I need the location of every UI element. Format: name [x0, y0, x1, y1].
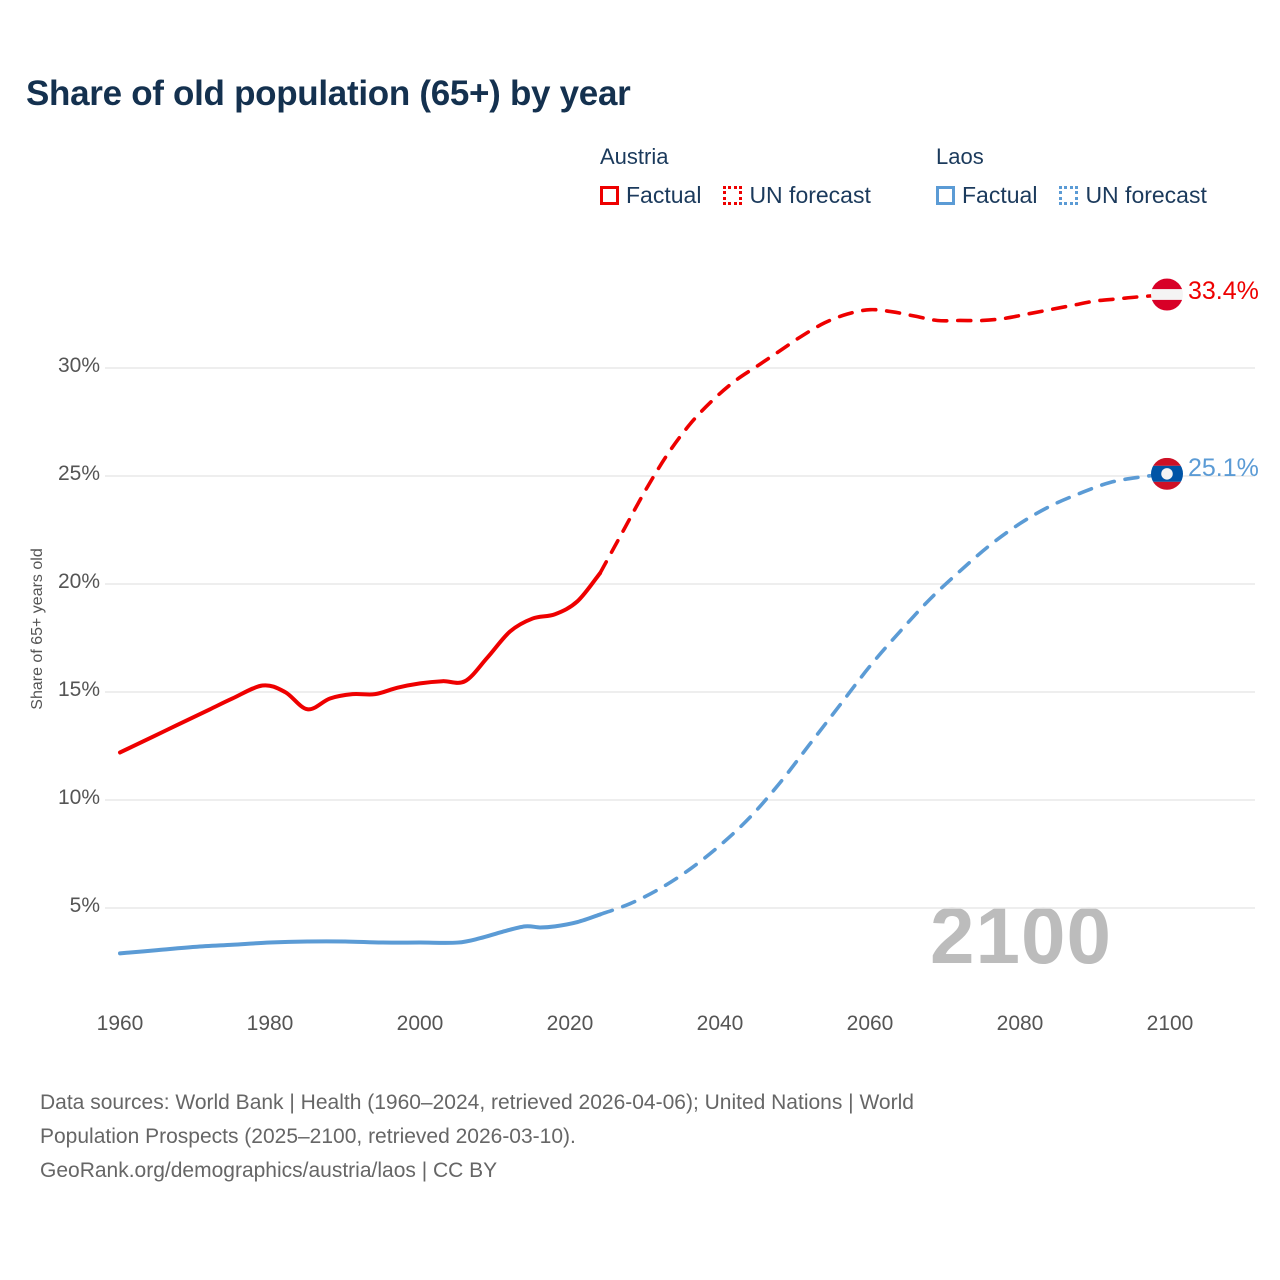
- y-axis-tick-label: 5%: [20, 894, 100, 918]
- y-axis-tick-label: 15%: [20, 678, 100, 702]
- x-axis-tick-label: 2080: [960, 1012, 1080, 1036]
- y-axis-tick-label: 10%: [20, 786, 100, 810]
- x-axis-tick-label: 2000: [360, 1012, 480, 1036]
- series-line-laos-un-forecast: [600, 474, 1170, 915]
- footer-sources: Data sources: World Bank | Health (1960–…: [40, 1086, 1220, 1188]
- x-axis-tick-label: 1960: [60, 1012, 180, 1036]
- austria-flag-icon: [1151, 279, 1183, 311]
- footer-line-2: Population Prospects (2025–2100, retriev…: [40, 1120, 1220, 1154]
- footer-line-3[interactable]: GeoRank.org/demographics/austria/laos | …: [40, 1154, 1220, 1188]
- series-line-laos-factual: [120, 914, 600, 953]
- x-axis-tick-label: 2020: [510, 1012, 630, 1036]
- x-axis-tick-label: 2060: [810, 1012, 930, 1036]
- series-line-austria-un-forecast: [600, 295, 1170, 574]
- x-axis-tick-label: 2100: [1110, 1012, 1230, 1036]
- x-axis-tick-label: 1980: [210, 1012, 330, 1036]
- end-label-austria: 33.4%: [1188, 277, 1259, 306]
- y-axis-tick-label: 25%: [20, 462, 100, 486]
- end-label-laos: 25.1%: [1188, 454, 1259, 483]
- series-line-austria-factual: [120, 573, 600, 752]
- y-axis-tick-label: 20%: [20, 570, 100, 594]
- footer-line-1: Data sources: World Bank | Health (1960–…: [40, 1086, 1220, 1120]
- chart-container: Share of old population (65+) by year Au…: [0, 0, 1280, 1280]
- laos-flag-icon: [1151, 458, 1183, 490]
- y-axis-tick-label: 30%: [20, 354, 100, 378]
- x-axis-tick-label: 2040: [660, 1012, 780, 1036]
